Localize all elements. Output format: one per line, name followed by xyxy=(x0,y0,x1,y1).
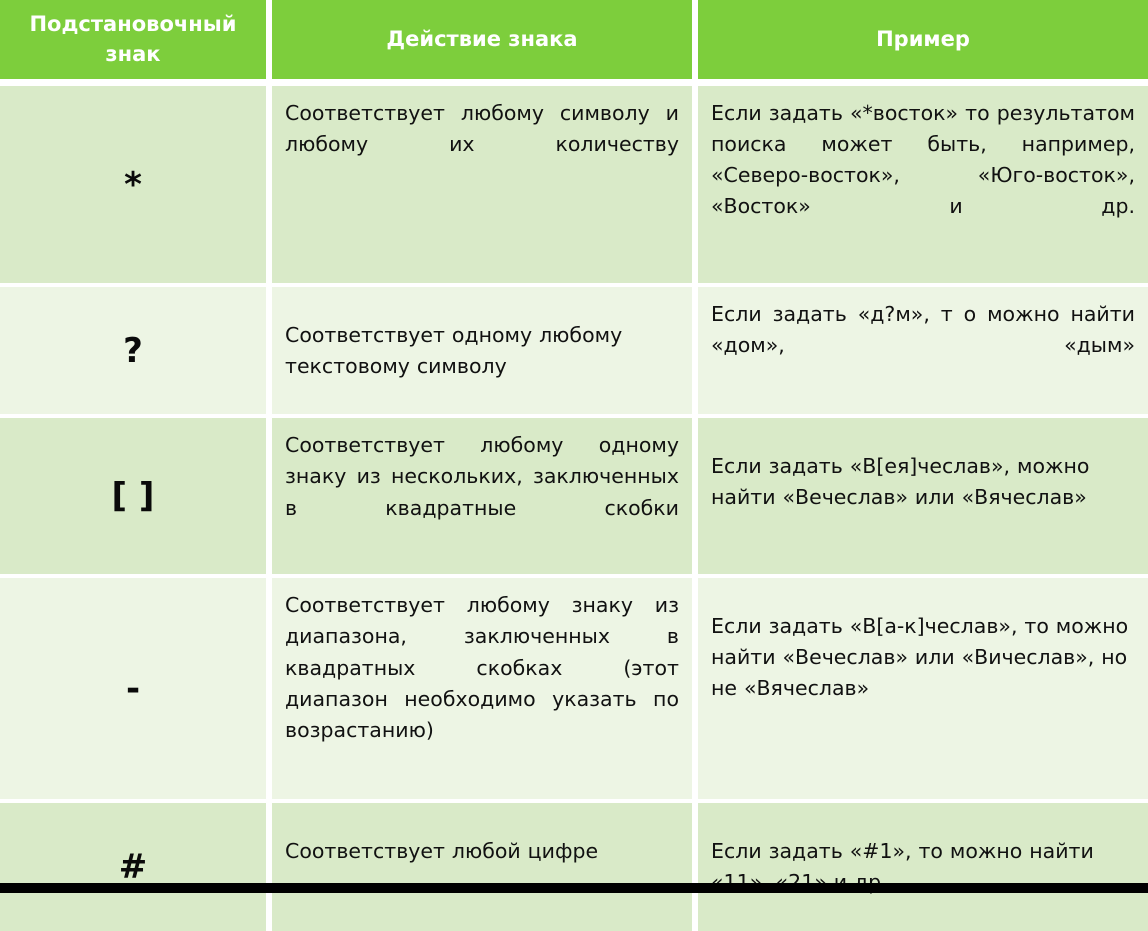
header-separator-cell-2 xyxy=(272,79,698,86)
table-row: - Соответствует любому знаку из диапазон… xyxy=(0,578,1148,799)
wildcard-example-text: Если задать «д?м», т о можно найти «дом»… xyxy=(711,299,1135,392)
column-header-action: Действие знака xyxy=(272,0,698,79)
table-row: ? Соответствует одному любому текстовому… xyxy=(0,287,1148,414)
wildcard-sign: # xyxy=(0,803,272,930)
table-row: * Соответствует любому символу и любому … xyxy=(0,86,1148,283)
column-header-sign: Подстановочный знак xyxy=(0,0,272,79)
wildcard-sign: [ ] xyxy=(0,418,272,574)
wildcard-sign: * xyxy=(0,86,272,283)
wildcard-example: Если задать «#1», то можно найти «11», «… xyxy=(698,803,1148,930)
wildcard-action: Соответствует любой цифре xyxy=(272,803,698,930)
wildcard-sign: - xyxy=(0,578,272,799)
wildcard-action: Соответствует одному любому текстовому с… xyxy=(272,287,698,414)
header-separator xyxy=(0,79,1148,86)
wildcard-action: Соответствует любому одному знаку из нес… xyxy=(272,418,698,574)
wildcard-example: Если задать «В[а-к]чеслав», то можно най… xyxy=(698,578,1148,799)
wildcard-action: Соответствует любому знаку из диапазона,… xyxy=(272,578,698,799)
column-header-example: Пример xyxy=(698,0,1148,79)
wildcard-example-text: Если задать «В[ея]чеслав», можно найти «… xyxy=(711,451,1135,513)
header-row: Подстановочный знак Действие знака Приме… xyxy=(0,0,1148,79)
table-header: Подстановочный знак Действие знака Приме… xyxy=(0,0,1148,79)
wildcard-action-text: Соответствует любому одному знаку из нес… xyxy=(285,430,679,555)
table-row: # Соответствует любой цифре Если задать … xyxy=(0,803,1148,930)
wildcard-example: Если задать «В[ея]чеслав», можно найти «… xyxy=(698,418,1148,574)
wildcard-example-text: Если задать «В[а-к]чеслав», то можно най… xyxy=(711,611,1135,704)
wildcard-action-text: Соответствует любой цифре xyxy=(285,836,679,867)
wildcard-action-text: Соответствует любому символу и любому их… xyxy=(285,98,679,191)
wildcard-sign: ? xyxy=(0,287,272,414)
wildcard-action: Соответствует любому символу и любому их… xyxy=(272,86,698,283)
wildcard-action-text: Соответствует одному любому текстовому с… xyxy=(285,320,679,382)
table-body: * Соответствует любому символу и любому … xyxy=(0,79,1148,931)
table-row: [ ] Соответствует любому одному знаку из… xyxy=(0,418,1148,574)
wildcard-reference-table: Подстановочный знак Действие знака Приме… xyxy=(0,0,1148,931)
wildcard-action-text: Соответствует любому знаку из диапазона,… xyxy=(285,590,679,777)
wildcard-example: Если задать «д?м», т о можно найти «дом»… xyxy=(698,287,1148,414)
header-separator-cell-1 xyxy=(0,79,272,86)
wildcard-example-text: Если задать «*восток» то результатом пои… xyxy=(711,98,1135,254)
header-separator-cell-3 xyxy=(698,79,1148,86)
bottom-black-bar xyxy=(0,883,1148,893)
wildcard-example: Если задать «*восток» то результатом пои… xyxy=(698,86,1148,283)
